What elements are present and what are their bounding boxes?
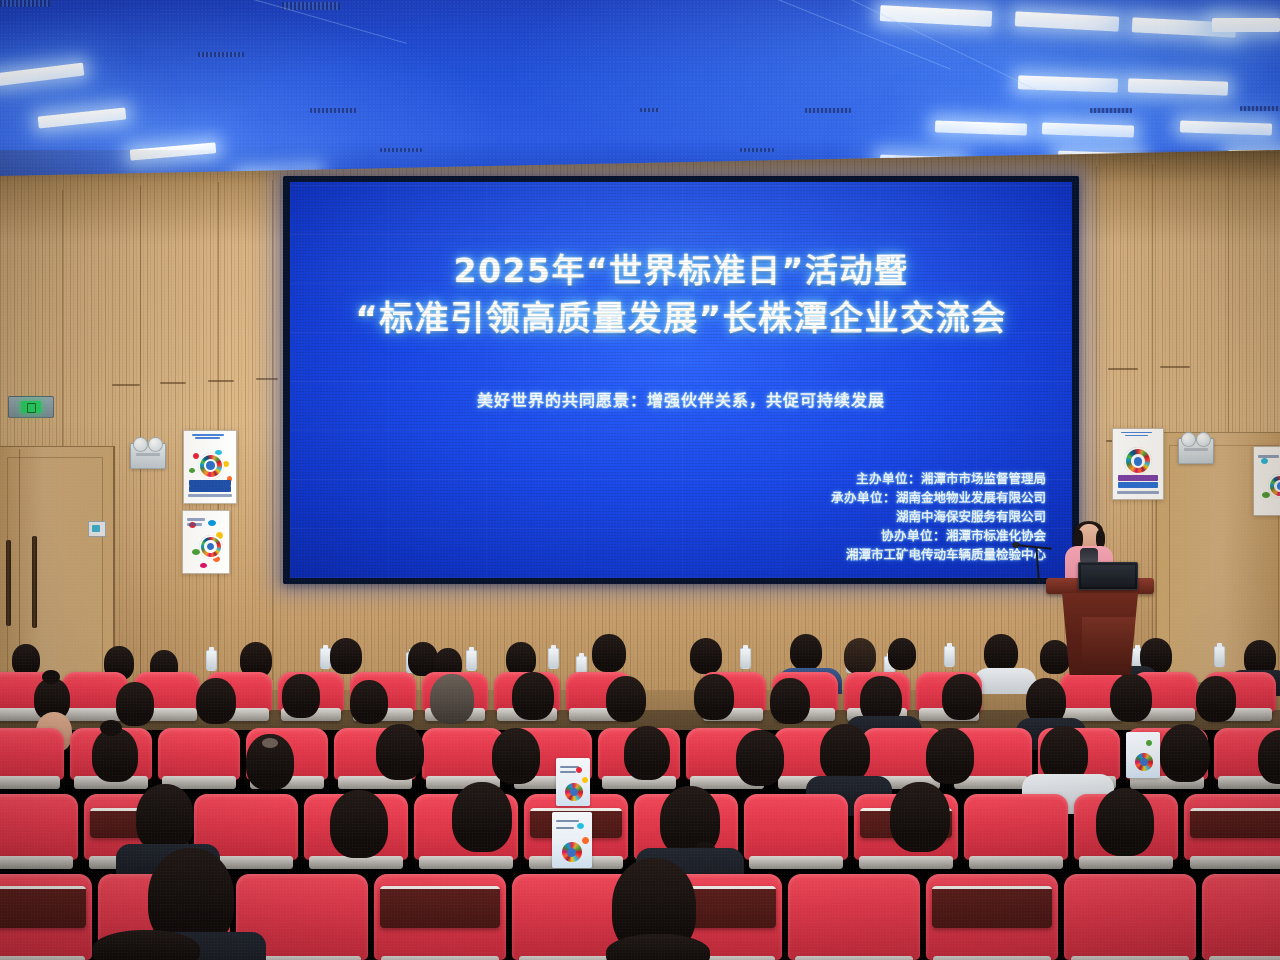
- ceiling-vent: [198, 52, 244, 57]
- ceiling-vent: [805, 108, 851, 113]
- led-screen-surface: 2025年“世界标准日”活动暨 “标准引领高质量发展”长株潭企业交流会 美好世界…: [290, 182, 1072, 578]
- attendee-head: [736, 730, 784, 786]
- attendee-head: [1110, 674, 1152, 722]
- wall-joint-mark: [1108, 368, 1138, 370]
- confetti-dot: [208, 520, 216, 526]
- wall-joint-mark: [160, 382, 186, 384]
- water-bottle: [944, 646, 955, 667]
- emergency-light-bar: [1184, 448, 1208, 451]
- ceiling-vent: [740, 148, 774, 152]
- seat-writing-tablet: [380, 886, 500, 928]
- poster-title-bar: [1118, 475, 1158, 481]
- attendee-head: [430, 674, 474, 724]
- auditorium-seat[interactable]: [964, 794, 1068, 860]
- poster-text-line: [1117, 491, 1159, 494]
- poster-title-bar: [189, 486, 231, 492]
- conference-hall-photo: 2025年“世界标准日”活动暨 “标准引领高质量发展”长株潭企业交流会 美好世界…: [0, 0, 1280, 960]
- auditorium-seat[interactable]: [0, 794, 78, 860]
- auditorium-seat[interactable]: [158, 728, 240, 780]
- attendee-head: [624, 726, 670, 780]
- poster-text-line: [187, 523, 203, 526]
- confetti-dot: [200, 563, 207, 568]
- water-bottle: [548, 648, 559, 669]
- conference-tote-bag: [552, 812, 592, 868]
- attendee-head: [330, 790, 388, 858]
- sdg-wheel-icon: [1124, 447, 1152, 475]
- tote-text-line: [556, 827, 574, 829]
- ceiling-panel-light: [1212, 18, 1280, 32]
- led-screen: 2025年“世界标准日”活动暨 “标准引领高质量发展”长株潭企业交流会 美好世界…: [283, 176, 1079, 584]
- confetti-dot: [189, 468, 195, 473]
- tote-wheel-icon: [565, 783, 583, 801]
- attendee-head: [942, 674, 982, 720]
- wall-joint-mark: [1160, 366, 1190, 368]
- attendee-head: [790, 634, 822, 670]
- water-bottle: [206, 650, 217, 671]
- auditorium-seat[interactable]: [788, 874, 920, 960]
- attendee-head: [116, 682, 154, 726]
- confetti-dot: [193, 453, 199, 459]
- attendee-head: [350, 680, 388, 724]
- wall-switch-box[interactable]: [88, 521, 106, 537]
- attendee-head: [606, 676, 646, 722]
- seat-writing-tablet: [932, 886, 1052, 928]
- attendee-head: [1160, 724, 1210, 782]
- ceiling-vent: [310, 108, 358, 113]
- emergency-light-bar: [136, 453, 160, 456]
- poster-header-line: [1125, 435, 1148, 437]
- attendee-hair-bun: [100, 720, 122, 736]
- conference-tote-bag: [1126, 732, 1160, 778]
- podium-front-panel: [1082, 617, 1138, 675]
- poster-text-line: [1258, 455, 1279, 458]
- tote-wheel-icon: [1135, 753, 1153, 771]
- water-bottle: [466, 650, 477, 671]
- podium-body: [1062, 593, 1138, 675]
- auditorium-seat[interactable]: [1202, 874, 1280, 960]
- attendee-hair-clip: [262, 738, 278, 748]
- ceiling-vent: [1090, 108, 1132, 113]
- attendee-head: [888, 638, 916, 670]
- attendee-head: [330, 638, 362, 674]
- attendee-hair-bun: [42, 670, 60, 684]
- attendee-head: [690, 638, 722, 674]
- attendee-head: [844, 638, 876, 674]
- tote-confetti: [1146, 740, 1152, 746]
- auditorium-seat[interactable]: [744, 794, 848, 860]
- attendee-head: [92, 728, 138, 782]
- laptop-screen: [1081, 565, 1135, 587]
- attendee-head: [506, 642, 536, 676]
- attendee-head: [592, 634, 626, 672]
- wall-seam: [1152, 164, 1153, 684]
- wall-joint-mark: [208, 380, 234, 382]
- attendee-head: [770, 678, 810, 724]
- poster-text-line: [187, 518, 205, 521]
- tote-wheel-icon: [562, 842, 582, 862]
- tote-text-line: [560, 771, 576, 773]
- attendee-head: [512, 672, 554, 720]
- ceiling-vent: [0, 0, 50, 7]
- auditorium-seat[interactable]: [0, 728, 64, 780]
- seat-writing-tablet: [1190, 808, 1280, 838]
- sdg-poster-right-2: [1253, 446, 1280, 516]
- attendee-head: [492, 728, 540, 784]
- podium-laptop: [1078, 562, 1138, 590]
- water-bottle: [1214, 646, 1225, 667]
- attendee-head: [136, 784, 194, 852]
- tote-confetti: [576, 767, 582, 773]
- tote-confetti: [582, 837, 589, 844]
- attendee-head: [890, 782, 950, 852]
- wall-joint-mark: [256, 378, 278, 380]
- confetti-dot: [1262, 492, 1270, 498]
- wall-seam: [272, 180, 273, 680]
- attendee-head: [926, 728, 974, 784]
- ceiling-vent: [380, 148, 422, 152]
- emergency-light-icon: [130, 443, 166, 469]
- poster-header-line: [1121, 432, 1152, 434]
- emergency-light-icon: [1178, 438, 1214, 464]
- exit-icon: [21, 401, 41, 413]
- conference-tote-bag: [556, 758, 590, 806]
- attendee-head: [1096, 788, 1154, 856]
- attendee-head: [694, 674, 734, 720]
- sdg-poster-left-2: [182, 510, 230, 574]
- sdg-poster-right-1: [1112, 428, 1164, 500]
- tote-confetti: [577, 823, 584, 829]
- attendee-head: [452, 782, 512, 852]
- tote-text-line: [556, 820, 579, 822]
- ceiling-vent: [1240, 106, 1280, 111]
- attendee-head: [820, 724, 870, 782]
- wall-seam: [140, 186, 141, 686]
- attendee-head: [984, 634, 1018, 672]
- attendee-head: [376, 724, 424, 780]
- ceiling-vent: [640, 108, 660, 112]
- attendee-head: [1196, 676, 1236, 722]
- speaker-podium: [1052, 578, 1148, 674]
- led-scanlines: [290, 182, 1072, 578]
- exit-sign: [8, 396, 54, 418]
- attendee-head: [92, 930, 200, 960]
- sdg-wheel-icon: [198, 453, 224, 479]
- poster-title-bar: [1118, 482, 1158, 488]
- auditorium-seat[interactable]: [1064, 874, 1196, 960]
- poster-text-line: [188, 494, 232, 497]
- wall-joint-mark: [112, 384, 140, 386]
- tote-confetti: [582, 777, 588, 783]
- water-bottle: [740, 648, 751, 669]
- confetti-dot: [223, 461, 229, 467]
- attendee-head: [196, 678, 236, 724]
- attendee-head: [282, 674, 320, 718]
- seat-writing-tablet: [0, 886, 86, 928]
- sdg-wheel-icon: [199, 535, 223, 559]
- confetti-dot: [1261, 458, 1268, 464]
- sdg-poster-left: [183, 430, 237, 504]
